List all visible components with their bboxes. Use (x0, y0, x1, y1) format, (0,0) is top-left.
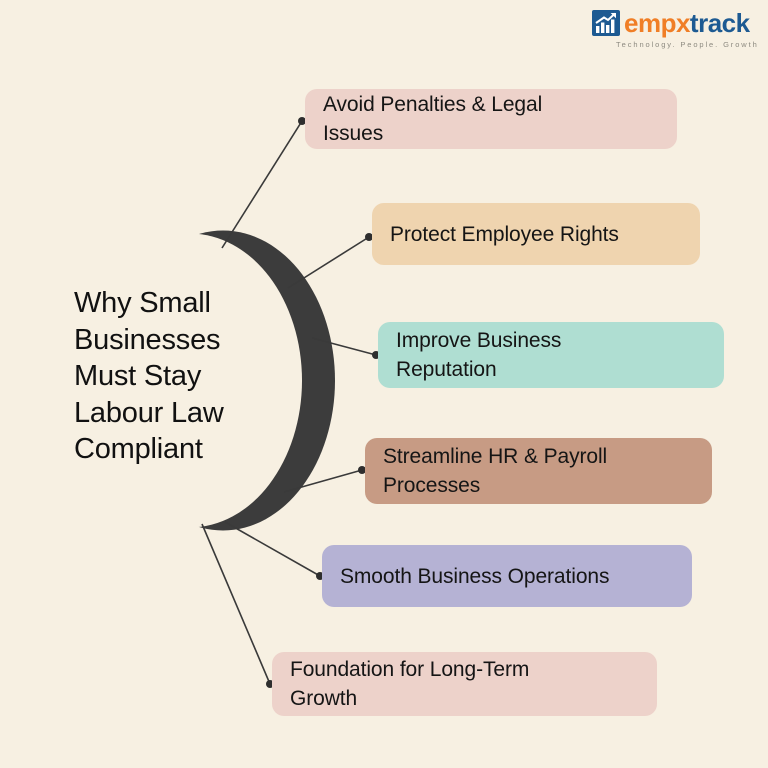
benefit-box-5[interactable]: Smooth Business Operations (322, 545, 692, 607)
benefit-box-3[interactable]: Improve Business Reputation (378, 322, 724, 388)
benefit-label-3: Improve Business Reputation (396, 326, 561, 384)
benefit-label-6: Foundation for Long-Term Growth (290, 655, 529, 713)
connector-line-6 (202, 524, 270, 684)
benefit-box-2[interactable]: Protect Employee Rights (372, 203, 700, 265)
connector-line-2 (288, 237, 369, 288)
connector-line-1 (222, 121, 302, 248)
infographic-canvas: empxtrack Technology. People. Growth Why… (0, 0, 768, 768)
benefit-box-6[interactable]: Foundation for Long-Term Growth (272, 652, 657, 716)
benefit-label-2: Protect Employee Rights (390, 220, 619, 249)
benefit-box-4[interactable]: Streamline HR & Payroll Processes (365, 438, 712, 504)
connector-line-5 (225, 522, 320, 576)
connector-line-3 (312, 338, 376, 355)
benefit-label-5: Smooth Business Operations (340, 562, 609, 591)
benefit-label-4: Streamline HR & Payroll Processes (383, 442, 607, 500)
benefit-label-1: Avoid Penalties & Legal Issues (323, 90, 542, 148)
connector-line-4 (284, 470, 362, 492)
benefit-box-1[interactable]: Avoid Penalties & Legal Issues (305, 89, 677, 149)
